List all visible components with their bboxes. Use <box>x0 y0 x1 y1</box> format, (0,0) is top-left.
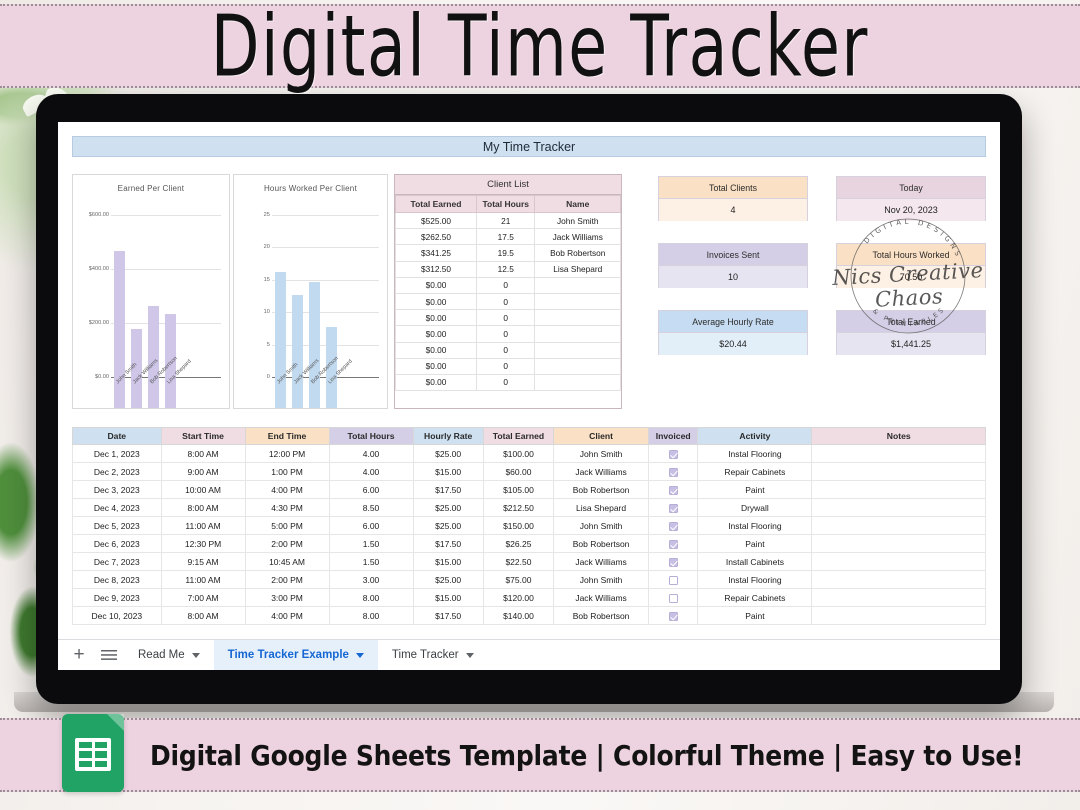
cell-activity[interactable]: Paint <box>698 607 812 625</box>
cell-invoiced[interactable] <box>649 445 698 463</box>
table-cell[interactable]: Bob Robertson <box>535 245 621 261</box>
cell-end[interactable]: 3:00 PM <box>245 589 329 607</box>
column-header-date: Date <box>73 428 162 445</box>
cell-end[interactable]: 10:45 AM <box>245 553 329 571</box>
cell-earned[interactable]: $212.50 <box>483 499 553 517</box>
cell-earned[interactable]: $150.00 <box>483 517 553 535</box>
table-cell[interactable]: 0 <box>476 310 535 326</box>
cell-date[interactable]: Dec 6, 2023 <box>73 535 162 553</box>
time-log-table-wrapper: Date Start Time End Time Total Hours Hou… <box>72 427 986 625</box>
cell-date[interactable]: Dec 9, 2023 <box>73 589 162 607</box>
cell-hours[interactable]: 6.00 <box>329 517 413 535</box>
banner-title-bar: Digital Time Tracker <box>0 4 1080 88</box>
cell-earned[interactable]: $140.00 <box>483 607 553 625</box>
cell-hours[interactable]: 8.50 <box>329 499 413 517</box>
table-cell[interactable]: $262.50 <box>395 229 476 245</box>
spreadsheet-area: My Time Tracker Earned Per Client $600.0… <box>58 122 1000 639</box>
cell-hours[interactable]: 4.00 <box>329 463 413 481</box>
kpi-value: 4 <box>659 199 807 221</box>
cell-date[interactable]: Dec 7, 2023 <box>73 553 162 571</box>
cell-activity[interactable]: Paint <box>698 535 812 553</box>
spreadsheet-heading: My Time Tracker <box>72 136 986 157</box>
table-cell[interactable]: 0 <box>476 342 535 358</box>
cell-rate[interactable]: $25.00 <box>413 517 483 535</box>
sheet-tab-time-tracker[interactable]: Time Tracker <box>378 640 488 670</box>
cell-activity[interactable]: Instal Flooring <box>698 571 812 589</box>
cell-client[interactable]: John Smith <box>554 571 649 589</box>
hamburger-menu-icon[interactable] <box>94 640 124 670</box>
kpi-card-invoices-sent[interactable]: Invoices Sent10 <box>658 243 808 288</box>
cell-invoiced[interactable] <box>649 481 698 499</box>
column-header-total-earned: Total Earned <box>483 428 553 445</box>
cell-notes[interactable] <box>812 571 986 589</box>
table-cell[interactable]: $0.00 <box>395 358 476 374</box>
cell-rate[interactable]: $17.50 <box>413 607 483 625</box>
sheet-tab-read-me[interactable]: Read Me <box>124 640 214 670</box>
chart-title: Hours Worked Per Client <box>234 175 387 193</box>
column-header-total-hours: Total Hours <box>476 196 535 213</box>
dashboard-row: Earned Per Client $600.00 $400.00 $200.0… <box>72 174 986 409</box>
cell-notes[interactable] <box>812 535 986 553</box>
cell-invoiced[interactable] <box>649 553 698 571</box>
cell-end[interactable]: 2:00 PM <box>245 535 329 553</box>
chart-earned-per-client: Earned Per Client $600.00 $400.00 $200.0… <box>72 174 230 409</box>
kpi-card-total-earned[interactable]: Total Earned$1,441.25 <box>836 310 986 355</box>
kpi-value: 70.50 <box>837 266 985 288</box>
cell-notes[interactable] <box>812 481 986 499</box>
cell-earned[interactable]: $60.00 <box>483 463 553 481</box>
page-title: Digital Time Tracker <box>211 0 869 95</box>
cell-client[interactable]: Bob Robertson <box>554 607 649 625</box>
cell-date[interactable]: Dec 3, 2023 <box>73 481 162 499</box>
table-row[interactable]: Dec 9, 20237:00 AM3:00 PM8.00$15.00$120.… <box>73 589 986 607</box>
cell-earned[interactable]: $22.50 <box>483 553 553 571</box>
table-cell[interactable] <box>535 374 621 390</box>
invoiced-checkbox[interactable] <box>669 612 678 621</box>
cell-rate[interactable]: $17.50 <box>413 535 483 553</box>
footer-band: Digital Google Sheets Template | Colorfu… <box>0 718 1080 792</box>
kpi-card-total-hours-worked[interactable]: Total Hours Worked70.50 <box>836 243 986 288</box>
cell-rate[interactable]: $25.00 <box>413 571 483 589</box>
cell-notes[interactable] <box>812 445 986 463</box>
cell-end[interactable]: 4:00 PM <box>245 481 329 499</box>
cell-end[interactable]: 2:00 PM <box>245 571 329 589</box>
table-row[interactable]: Dec 1, 20238:00 AM12:00 PM4.00$25.00$100… <box>73 445 986 463</box>
table-row[interactable]: $262.5017.5Jack Williams <box>395 229 620 245</box>
cell-client[interactable]: Bob Robertson <box>554 535 649 553</box>
column-header-start-time: Start Time <box>161 428 245 445</box>
invoiced-checkbox[interactable] <box>669 576 678 585</box>
sheet-tab-label: Time Tracker Example <box>228 649 349 661</box>
cell-invoiced[interactable] <box>649 535 698 553</box>
invoiced-checkbox[interactable] <box>669 540 678 549</box>
table-cell[interactable]: $0.00 <box>395 326 476 342</box>
kpi-label: Average Hourly Rate <box>659 311 807 333</box>
table-row[interactable]: $0.000 <box>395 342 620 358</box>
table-cell[interactable]: $312.50 <box>395 261 476 277</box>
cell-invoiced[interactable] <box>649 463 698 481</box>
cell-activity[interactable]: Instal Flooring <box>698 517 812 535</box>
cell-client[interactable]: Jack Williams <box>554 553 649 571</box>
cell-hours[interactable]: 1.50 <box>329 535 413 553</box>
cell-hours[interactable]: 3.00 <box>329 571 413 589</box>
cell-client[interactable]: Lisa Shepard <box>554 499 649 517</box>
cell-client[interactable]: John Smith <box>554 445 649 463</box>
cell-activity[interactable]: Drywall <box>698 499 812 517</box>
table-cell[interactable]: $0.00 <box>395 277 476 293</box>
cell-end[interactable]: 1:00 PM <box>245 463 329 481</box>
table-row[interactable]: Dec 7, 20239:15 AM10:45 AM1.50$15.00$22.… <box>73 553 986 571</box>
table-cell[interactable]: Lisa Shepard <box>535 261 621 277</box>
cell-activity[interactable]: Repair Cabinets <box>698 589 812 607</box>
kpi-card-total-clients[interactable]: Total Clients4 <box>658 176 808 221</box>
cell-hours[interactable]: 4.00 <box>329 445 413 463</box>
table-cell[interactable]: 0 <box>476 277 535 293</box>
cell-rate[interactable]: $15.00 <box>413 589 483 607</box>
cell-notes[interactable] <box>812 607 986 625</box>
table-row[interactable]: Dec 10, 20238:00 AM4:00 PM8.00$17.50$140… <box>73 607 986 625</box>
cell-earned[interactable]: $26.25 <box>483 535 553 553</box>
cell-earned[interactable]: $120.00 <box>483 589 553 607</box>
cell-hours[interactable]: 6.00 <box>329 481 413 499</box>
cell-start[interactable]: 7:00 AM <box>161 589 245 607</box>
client-list-table: Client List Total Earned Total Hours Nam… <box>394 174 622 409</box>
invoiced-checkbox[interactable] <box>669 594 678 603</box>
cell-invoiced[interactable] <box>649 571 698 589</box>
table-cell[interactable]: $525.00 <box>395 213 476 229</box>
table-row[interactable]: $0.000 <box>395 277 620 293</box>
sheet-tab-label: Time Tracker <box>392 649 459 661</box>
table-cell[interactable] <box>535 342 621 358</box>
cell-client[interactable]: Jack Williams <box>554 589 649 607</box>
laptop-screen: My Time Tracker Earned Per Client $600.0… <box>58 122 1000 670</box>
sheet-tab-label: Read Me <box>138 649 185 661</box>
chart-ytick: $600.00 <box>75 212 109 218</box>
cell-client[interactable]: Jack Williams <box>554 463 649 481</box>
chart-bar <box>292 295 303 408</box>
chart-bar <box>148 306 159 408</box>
chart-plot-area: 25 20 15 10 5 0 John Smith <box>234 197 387 408</box>
cell-start[interactable]: 8:00 AM <box>161 607 245 625</box>
table-row[interactable]: Dec 6, 202312:30 PM2:00 PM1.50$17.50$26.… <box>73 535 986 553</box>
cell-activity[interactable]: Instal Flooring <box>698 445 812 463</box>
cell-invoiced[interactable] <box>649 499 698 517</box>
chart-hours-worked-per-client: Hours Worked Per Client 25 20 15 10 5 0 <box>233 174 388 409</box>
cell-start[interactable]: 11:00 AM <box>161 571 245 589</box>
kpi-value: Nov 20, 2023 <box>837 199 985 221</box>
footer-text: Digital Google Sheets Template | Colorfu… <box>150 739 1023 771</box>
cell-date[interactable]: Dec 5, 2023 <box>73 517 162 535</box>
table-row[interactable]: Dec 5, 202311:00 AM5:00 PM6.00$25.00$150… <box>73 517 986 535</box>
kpi-value: $20.44 <box>659 333 807 355</box>
invoiced-checkbox[interactable] <box>669 450 678 459</box>
column-header-notes: Notes <box>812 428 986 445</box>
cell-date[interactable]: Dec 10, 2023 <box>73 607 162 625</box>
cell-hours[interactable]: 1.50 <box>329 553 413 571</box>
cell-earned[interactable]: $75.00 <box>483 571 553 589</box>
cell-date[interactable]: Dec 1, 2023 <box>73 445 162 463</box>
table-cell[interactable]: $0.00 <box>395 293 476 309</box>
client-list-header-row: Total Earned Total Hours Name <box>395 196 620 213</box>
kpi-value: $1,441.25 <box>837 333 985 355</box>
invoiced-checkbox[interactable] <box>669 486 678 495</box>
chart-ytick: 10 <box>236 309 270 315</box>
cell-notes[interactable] <box>812 499 986 517</box>
table-cell[interactable]: 12.5 <box>476 261 535 277</box>
table-cell[interactable] <box>535 277 621 293</box>
column-header-total-hours: Total Hours <box>329 428 413 445</box>
sheet-tab-bar: + Read MeTime Tracker ExampleTime Tracke… <box>58 639 1000 670</box>
table-cell[interactable] <box>535 358 621 374</box>
cell-end[interactable]: 4:00 PM <box>245 607 329 625</box>
table-cell[interactable] <box>535 326 621 342</box>
column-header-hourly-rate: Hourly Rate <box>413 428 483 445</box>
column-header-name: Name <box>535 196 621 213</box>
cell-hours[interactable]: 8.00 <box>329 589 413 607</box>
kpi-label: Total Earned <box>837 311 985 333</box>
google-sheets-icon <box>62 714 124 792</box>
cell-start[interactable]: 9:15 AM <box>161 553 245 571</box>
table-cell[interactable] <box>535 293 621 309</box>
cell-client[interactable]: Bob Robertson <box>554 481 649 499</box>
cell-date[interactable]: Dec 4, 2023 <box>73 499 162 517</box>
cell-date[interactable]: Dec 8, 2023 <box>73 571 162 589</box>
table-cell[interactable]: $341.25 <box>395 245 476 261</box>
cell-start[interactable]: 9:00 AM <box>161 463 245 481</box>
kpi-label: Today <box>837 177 985 199</box>
kpi-label: Invoices Sent <box>659 244 807 266</box>
chart-ytick: 0 <box>236 374 270 380</box>
table-cell[interactable]: 0 <box>476 358 535 374</box>
table-row[interactable]: Dec 4, 20238:00 AM4:30 PM8.50$25.00$212.… <box>73 499 986 517</box>
chart-ytick: $400.00 <box>75 266 109 272</box>
chart-title: Earned Per Client <box>73 175 229 193</box>
table-row[interactable]: $0.000 <box>395 310 620 326</box>
table-cell[interactable]: 21 <box>476 213 535 229</box>
table-cell[interactable]: $0.00 <box>395 374 476 390</box>
kpi-card-grid: Total Clients4TodayNov 20, 2023Invoices … <box>658 174 986 409</box>
kpi-label: Total Clients <box>659 177 807 199</box>
laptop-frame: My Time Tracker Earned Per Client $600.0… <box>36 94 1022 704</box>
cell-date[interactable]: Dec 2, 2023 <box>73 463 162 481</box>
chart-bar <box>309 282 320 408</box>
table-cell[interactable] <box>535 310 621 326</box>
table-row[interactable]: $0.000 <box>395 374 620 390</box>
table-row[interactable]: Dec 3, 202310:00 AM4:00 PM6.00$17.50$105… <box>73 481 986 499</box>
column-header-activity: Activity <box>698 428 812 445</box>
cell-rate[interactable]: $15.00 <box>413 553 483 571</box>
chart-ytick: 20 <box>236 244 270 250</box>
invoiced-checkbox[interactable] <box>669 522 678 531</box>
chart-ytick: $200.00 <box>75 320 109 326</box>
cell-end[interactable]: 4:30 PM <box>245 499 329 517</box>
cell-start[interactable]: 8:00 AM <box>161 445 245 463</box>
kpi-value: 10 <box>659 266 807 288</box>
sheets-grid-glyph <box>75 738 111 771</box>
table-row[interactable]: Dec 8, 202311:00 AM2:00 PM3.00$25.00$75.… <box>73 571 986 589</box>
column-header-end-time: End Time <box>245 428 329 445</box>
column-header-client: Client <box>554 428 649 445</box>
invoiced-checkbox[interactable] <box>669 468 678 477</box>
chart-ytick: 25 <box>236 212 270 218</box>
chevron-down-icon[interactable] <box>356 653 364 658</box>
column-header-total-earned: Total Earned <box>395 196 476 213</box>
column-header-invoiced: Invoiced <box>649 428 698 445</box>
cell-hours[interactable]: 8.00 <box>329 607 413 625</box>
table-row[interactable]: $0.000 <box>395 358 620 374</box>
chart-ytick: 5 <box>236 342 270 348</box>
cell-notes[interactable] <box>812 463 986 481</box>
kpi-label: Total Hours Worked <box>837 244 985 266</box>
cell-activity[interactable]: Install Cabinets <box>698 553 812 571</box>
add-sheet-icon[interactable]: + <box>64 640 94 670</box>
chart-ytick: 15 <box>236 277 270 283</box>
table-cell[interactable]: $0.00 <box>395 310 476 326</box>
time-log-header-row: Date Start Time End Time Total Hours Hou… <box>73 428 986 445</box>
chart-plot-area: $600.00 $400.00 $200.00 $0.00 John Smith <box>73 197 229 408</box>
cell-start[interactable]: 12:30 PM <box>161 535 245 553</box>
cell-end[interactable]: 12:00 PM <box>245 445 329 463</box>
cell-client[interactable]: John Smith <box>554 517 649 535</box>
cell-earned[interactable]: $105.00 <box>483 481 553 499</box>
table-cell[interactable]: 19.5 <box>476 245 535 261</box>
table-row[interactable]: $525.0021John Smith <box>395 213 620 229</box>
cell-start[interactable]: 10:00 AM <box>161 481 245 499</box>
table-cell[interactable]: 17.5 <box>476 229 535 245</box>
kpi-card-today[interactable]: TodayNov 20, 2023 <box>836 176 986 221</box>
cell-start[interactable]: 8:00 AM <box>161 499 245 517</box>
cell-activity[interactable]: Repair Cabinets <box>698 463 812 481</box>
table-row[interactable]: $341.2519.5Bob Robertson <box>395 245 620 261</box>
chart-ytick: $0.00 <box>75 374 109 380</box>
table-row[interactable]: Dec 2, 20239:00 AM1:00 PM4.00$15.00$60.0… <box>73 463 986 481</box>
table-cell[interactable]: 0 <box>476 374 535 390</box>
sheet-tab-time-tracker-example[interactable]: Time Tracker Example <box>214 640 378 670</box>
chart-bar <box>275 272 286 408</box>
cell-rate[interactable]: $25.00 <box>413 445 483 463</box>
cell-rate[interactable]: $15.00 <box>413 463 483 481</box>
table-cell[interactable]: 0 <box>476 326 535 342</box>
table-row[interactable]: $312.5012.5Lisa Shepard <box>395 261 620 277</box>
table-cell[interactable]: 0 <box>476 293 535 309</box>
cell-end[interactable]: 5:00 PM <box>245 517 329 535</box>
cell-earned[interactable]: $100.00 <box>483 445 553 463</box>
cell-notes[interactable] <box>812 589 986 607</box>
cell-invoiced[interactable] <box>649 517 698 535</box>
cell-invoiced[interactable] <box>649 589 698 607</box>
table-cell[interactable]: Jack Williams <box>535 229 621 245</box>
cell-notes[interactable] <box>812 553 986 571</box>
cell-activity[interactable]: Paint <box>698 481 812 499</box>
table-row[interactable]: $0.000 <box>395 293 620 309</box>
chevron-down-icon[interactable] <box>192 653 200 658</box>
chevron-down-icon[interactable] <box>466 653 474 658</box>
invoiced-checkbox[interactable] <box>669 504 678 513</box>
kpi-card-average-hourly-rate[interactable]: Average Hourly Rate$20.44 <box>658 310 808 355</box>
cell-rate[interactable]: $17.50 <box>413 481 483 499</box>
table-cell[interactable]: $0.00 <box>395 342 476 358</box>
cell-rate[interactable]: $25.00 <box>413 499 483 517</box>
table-row[interactable]: $0.000 <box>395 326 620 342</box>
cell-notes[interactable] <box>812 517 986 535</box>
client-list-title: Client List <box>395 175 621 195</box>
invoiced-checkbox[interactable] <box>669 558 678 567</box>
cell-start[interactable]: 11:00 AM <box>161 517 245 535</box>
cell-invoiced[interactable] <box>649 607 698 625</box>
table-cell[interactable]: John Smith <box>535 213 621 229</box>
